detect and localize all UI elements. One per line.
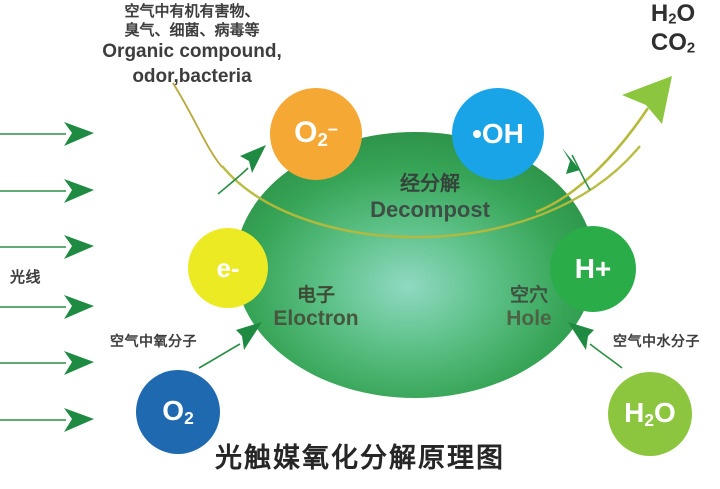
diagram-title: 光触媒氧化分解原理图	[0, 436, 720, 475]
decompost-en: Decompost	[340, 197, 520, 223]
water-molecule-label: 空气中水分子	[613, 331, 700, 351]
hole-en: Hole	[484, 307, 574, 332]
electron-en: Eloctron	[256, 307, 376, 332]
product-water: H2O	[630, 0, 716, 29]
light-ray-3	[0, 235, 94, 259]
species-circle-electron[interactable]: e-	[188, 228, 268, 308]
products-caption: H2O CO2	[630, 0, 716, 58]
decompost-label: 经分解 Decompost	[340, 173, 520, 223]
oxygen-input-arrow	[199, 322, 262, 368]
light-ray-1	[0, 122, 94, 146]
product-carbon-dioxide: CO2	[630, 29, 716, 58]
oxygen-molecule-label: 空气中氧分子	[110, 331, 197, 351]
organic-en-line2: odor,bacteria	[72, 65, 312, 89]
species-circle-o2-minus[interactable]: O2–	[270, 88, 362, 180]
o2-text: O2	[162, 395, 193, 429]
electron-text: e-	[216, 253, 239, 284]
light-ray-4	[0, 295, 94, 319]
light-ray-6	[0, 408, 94, 432]
light-rays-label: 光线	[10, 266, 41, 287]
organic-input-curve	[173, 83, 222, 167]
light-ray-2	[0, 179, 94, 203]
species-circle-hydroxyl-radical[interactable]: •OH	[452, 88, 544, 180]
electron-cn: 电子	[256, 285, 376, 307]
oh-output-arrow	[562, 148, 590, 190]
species-circle-h-plus[interactable]: H+	[550, 226, 636, 312]
light-ray-5	[0, 351, 94, 375]
h-plus-text: H+	[575, 253, 612, 285]
electron-label: 电子 Eloctron	[256, 285, 376, 332]
o2-minus-text: O2–	[294, 116, 338, 151]
organic-cn-line1: 空气中有机有害物、	[72, 2, 312, 21]
organic-input-caption: 空气中有机有害物、 臭气、细菌、病毒等 Organic compound, od…	[72, 2, 312, 89]
photocatalysis-diagram: 空气中有机有害物、 臭气、细菌、病毒等 Organic compound, od…	[0, 0, 720, 489]
organic-en-line1: Organic compound,	[72, 40, 312, 64]
organic-cn-line2: 臭气、细菌、病毒等	[72, 21, 312, 40]
h2o-text: H2O	[624, 397, 676, 431]
oh-text: •OH	[472, 118, 524, 150]
